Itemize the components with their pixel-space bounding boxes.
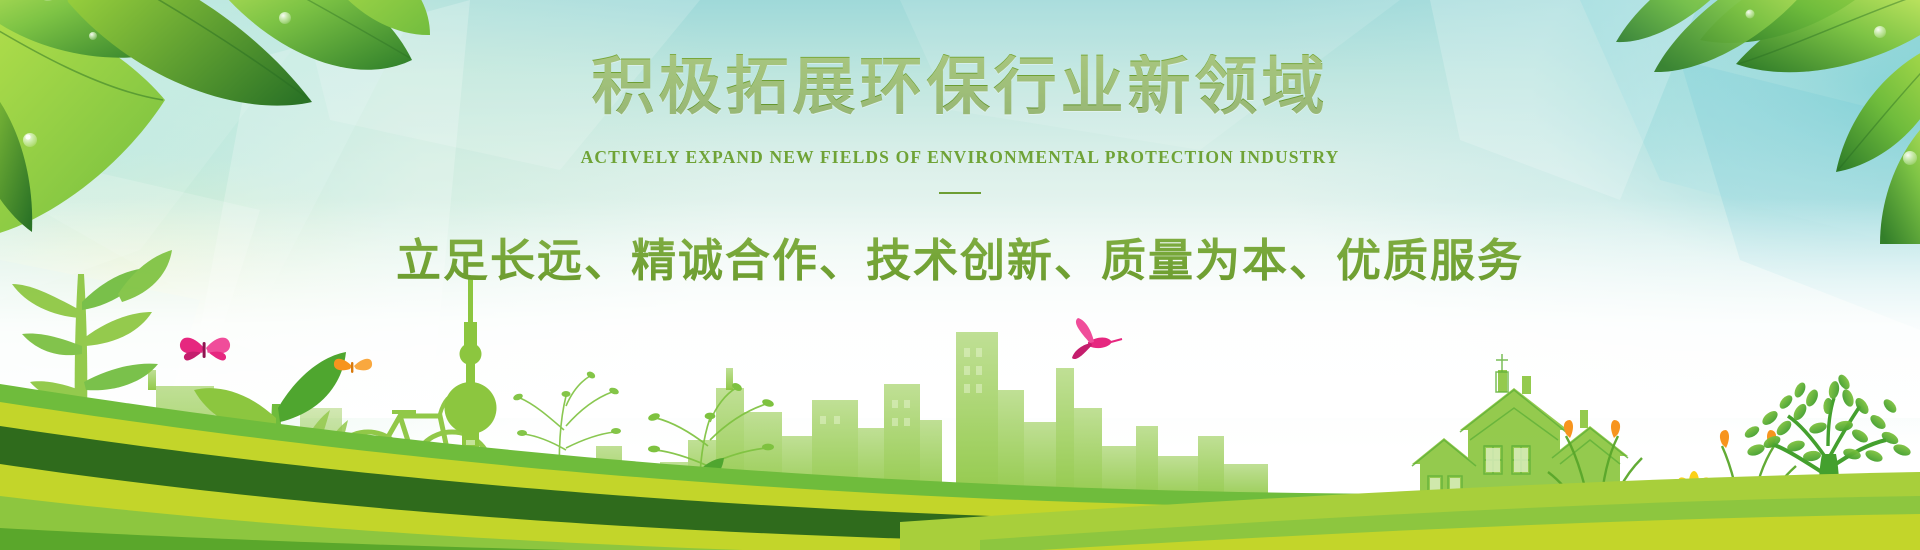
butterfly-pink-icon bbox=[180, 338, 230, 361]
banner-hero: 积极拓展环保行业新领域 ACTIVELY EXPAND NEW FIELDS O… bbox=[0, 0, 1920, 550]
hero-text-block: 积极拓展环保行业新领域 ACTIVELY EXPAND NEW FIELDS O… bbox=[0, 54, 1920, 289]
scenery-illustration bbox=[0, 250, 1920, 550]
hummingbird-icon bbox=[1072, 318, 1122, 359]
page-title: 积极拓展环保行业新领域 bbox=[0, 54, 1920, 121]
subtitle-english: ACTIVELY EXPAND NEW FIELDS OF ENVIRONMEN… bbox=[0, 147, 1920, 168]
divider-rule bbox=[939, 192, 981, 194]
tagline: 立足长远、精诚合作、技术创新、质量为本、优质服务 bbox=[0, 224, 1920, 289]
